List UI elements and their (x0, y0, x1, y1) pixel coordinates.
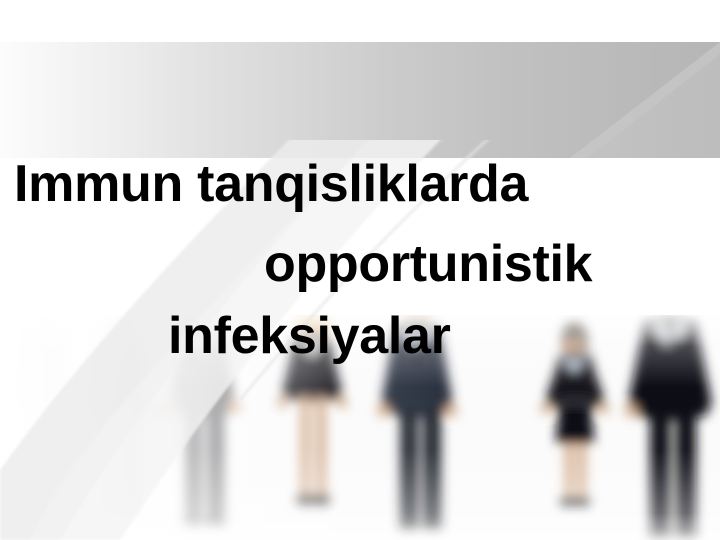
title-line-2: opportunistik (264, 238, 592, 290)
presentation-slide: Immun tanqisliklarda opportunistik infek… (0, 0, 720, 540)
title-line-1: Immun tanqisliklarda (14, 158, 528, 210)
title-line-3: infeksiyalar (168, 310, 451, 362)
slide-title: Immun tanqisliklarda opportunistik infek… (0, 0, 720, 540)
